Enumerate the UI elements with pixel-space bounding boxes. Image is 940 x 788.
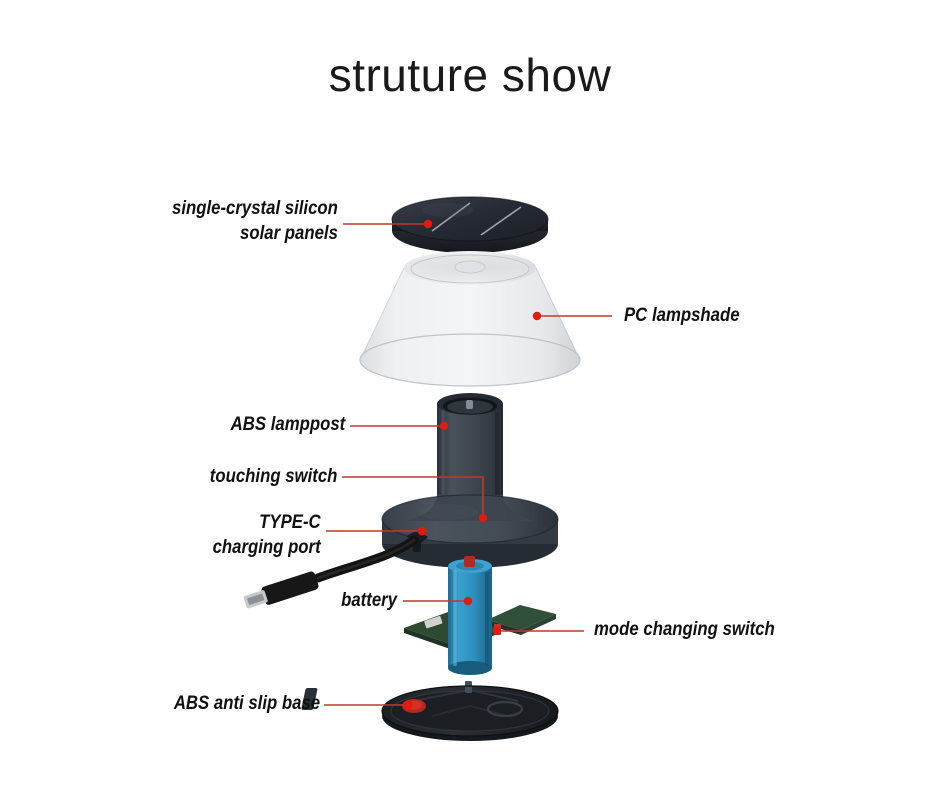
callout-label-touching-switch: touching switch <box>209 464 337 489</box>
callout-label-single-crystal-silicon-solar-panels: single-crystal silicon solar panels <box>172 196 338 246</box>
callout-label-abs-lamppost: ABS lamppost <box>230 412 345 437</box>
battery-cell <box>448 556 492 675</box>
callout-label-type-c-charging-port: TYPE-C charging port <box>213 510 321 560</box>
abs-lamppost-cylinder <box>437 393 503 512</box>
callout-label-abs-anti-slip-base: ABS anti slip base <box>174 691 320 716</box>
exploded-product-illustration <box>0 0 940 788</box>
structure-show-page: struture show <box>0 0 940 788</box>
pcb-board-right <box>487 605 556 635</box>
callout-label-battery: battery <box>341 588 397 613</box>
callout-label-mode-changing-switch: mode changing switch <box>594 617 775 642</box>
solar-panel-disc <box>392 197 548 253</box>
pc-lampshade-cone <box>360 251 580 386</box>
abs-anti-slip-base-plate <box>301 681 558 741</box>
callout-label-pc-lampshade: PC lampshade <box>624 303 740 328</box>
